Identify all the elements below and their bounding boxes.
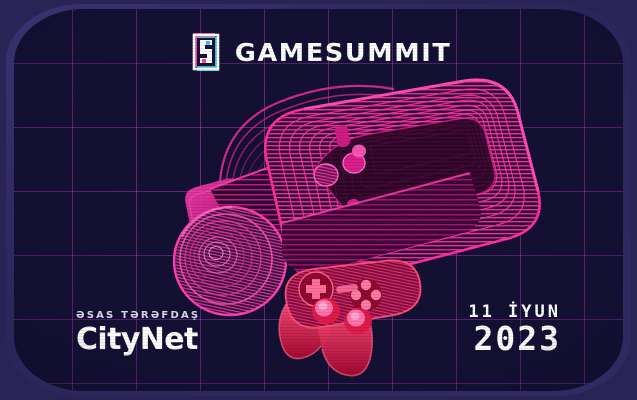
crt-screen: GAMESUMMIT ƏSAS TƏRƏFDAŞ CityNet 11 İYUN… (14, 9, 623, 391)
gamesummit-logo-icon (188, 31, 224, 73)
gamesummit-wordmark: GAMESUMMIT (235, 38, 451, 67)
event-date-year: 2023 (468, 322, 561, 357)
event-date-block: 11 İYUN 2023 (468, 303, 561, 357)
main-partner-block: ƏSAS TƏRƏFDAŞ CityNet (76, 310, 200, 355)
partner-kicker-label: ƏSAS TƏRƏFDAŞ (76, 310, 200, 321)
brand-lockup: GAMESUMMIT (14, 31, 623, 73)
event-poster: GAMESUMMIT ƏSAS TƏRƏFDAŞ CityNet 11 İYUN… (0, 0, 637, 400)
partner-name-citynet: CityNet (76, 325, 200, 355)
